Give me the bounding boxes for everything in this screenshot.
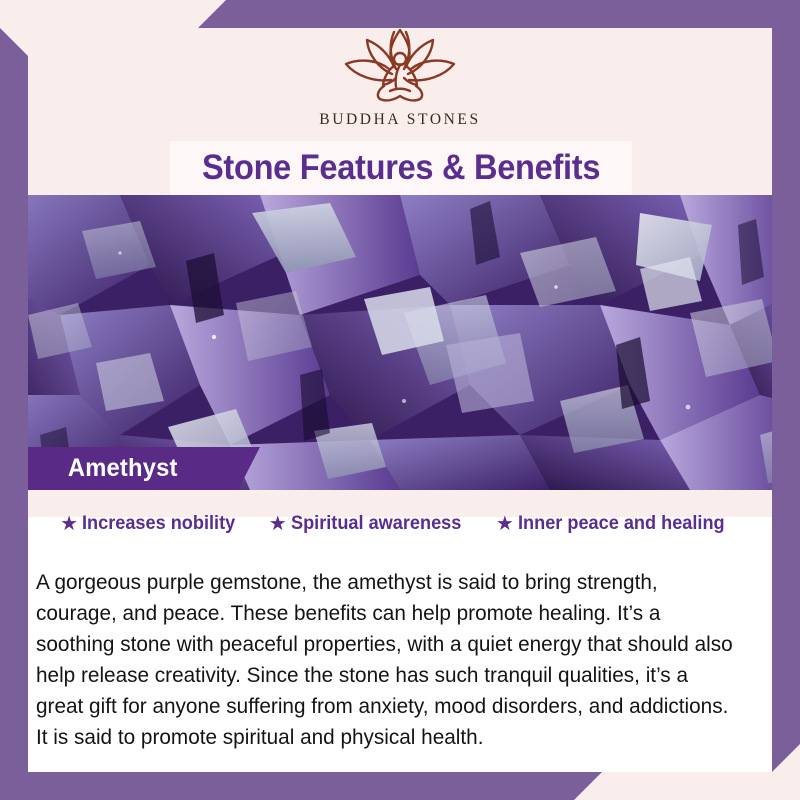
feature-item: ★ Inner peace and healing: [496, 512, 740, 535]
star-icon: ★: [60, 514, 78, 534]
star-icon: ★: [496, 514, 514, 534]
page-title: Stone Features & Benefits: [202, 148, 600, 188]
amethyst-crystal-cluster-graphic: [0, 195, 800, 490]
stone-name-banner: Amethyst: [10, 447, 260, 490]
page-title-band: Stone Features & Benefits: [170, 141, 632, 195]
stone-infographic: BUDDHA STONES Stone Features & Benefits: [0, 0, 800, 800]
feature-item: ★ Spiritual awareness: [269, 512, 474, 535]
star-icon: ★: [269, 514, 287, 534]
feature-list: ★ Increases nobility ★ Spiritual awarene…: [28, 512, 772, 535]
brand-logo: BUDDHA STONES: [0, 24, 800, 129]
lotus-meditation-icon: [334, 24, 466, 108]
stone-name: Amethyst: [68, 454, 178, 483]
feature-label: Inner peace and healing: [518, 512, 725, 535]
amethyst-photo: [0, 195, 800, 490]
brand-name: BUDDHA STONES: [0, 111, 800, 129]
stone-description: A gorgeous purple gemstone, the amethyst…: [36, 567, 740, 753]
content-panel: ★ Increases nobility ★ Spiritual awarene…: [28, 490, 772, 772]
frame-right-border: [772, 0, 800, 800]
feature-item: ★ Increases nobility: [60, 512, 247, 535]
frame-left-border: [0, 0, 28, 800]
feature-label: Spiritual awareness: [291, 512, 461, 535]
header-section: BUDDHA STONES Stone Features & Benefits: [0, 0, 800, 195]
feature-label: Increases nobility: [82, 512, 235, 535]
